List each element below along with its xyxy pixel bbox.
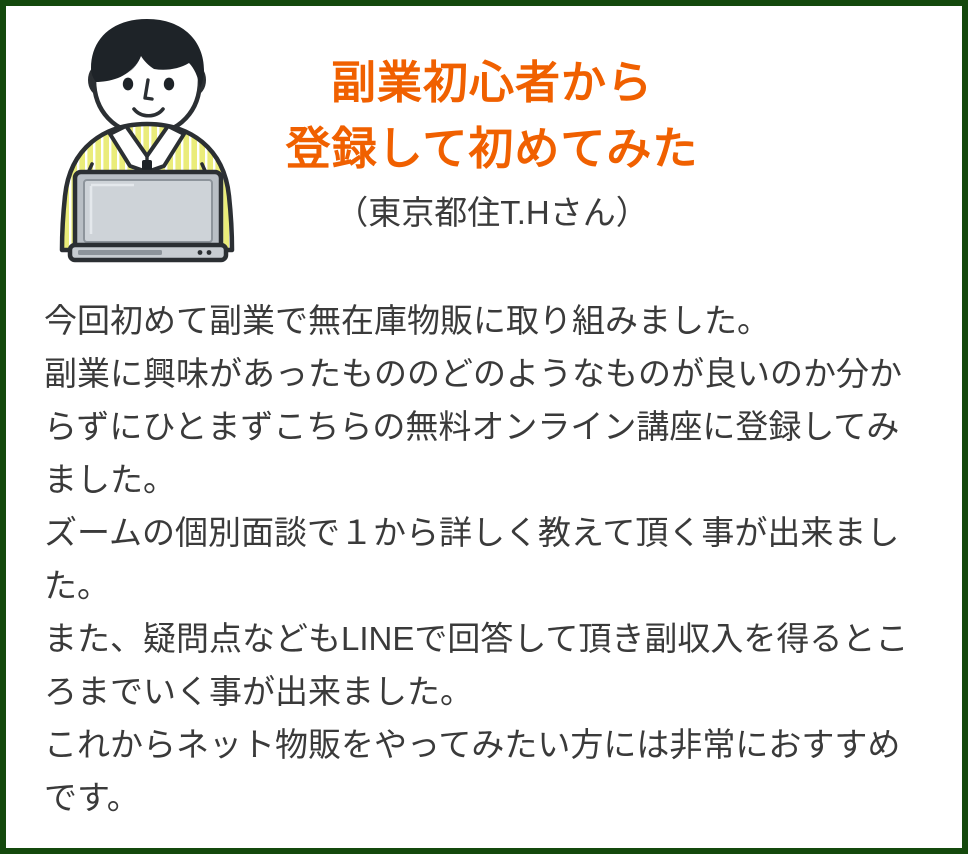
body-line: ズームの個別面談で１から詳しく教えて頂く事が出来まし <box>44 506 934 559</box>
body-line: 副業に興味があったもののどのようなものが良いのか分か <box>44 347 934 400</box>
body-line: です。 <box>44 771 934 824</box>
heading-line-1: 副業初心者から <box>242 50 742 116</box>
body-line: また、疑問点などもLINEで回答して頂き副収入を得るとこ <box>44 612 934 665</box>
heading-line-2: 登録して初めてみた <box>242 116 742 182</box>
body-line: ろまでいく事が出来ました。 <box>44 665 934 718</box>
body-line: これからネット物販をやってみたい方には非常におすすめ <box>44 718 934 771</box>
heading-subtitle: （東京都住T.Hさん） <box>242 190 742 236</box>
body-line: らずにひとまずこちらの無料オンライン講座に登録してみ <box>44 400 934 453</box>
body-line: た。 <box>44 559 934 612</box>
testimonial-body: 今回初めて副業で無在庫物販に取り組みました。 副業に興味があったもののどのような… <box>44 294 934 824</box>
body-line: 今回初めて副業で無在庫物販に取り組みました。 <box>44 294 934 347</box>
testimonial-card: 副業初心者から 登録して初めてみた （東京都住T.Hさん） 今回初めて副業で無在… <box>0 0 968 854</box>
person-with-laptop-icon <box>48 14 246 264</box>
card-header: 副業初心者から 登録して初めてみた （東京都住T.Hさん） <box>6 6 962 268</box>
heading-group: 副業初心者から 登録して初めてみた （東京都住T.Hさん） <box>242 50 742 236</box>
body-line: ました。 <box>44 453 934 506</box>
